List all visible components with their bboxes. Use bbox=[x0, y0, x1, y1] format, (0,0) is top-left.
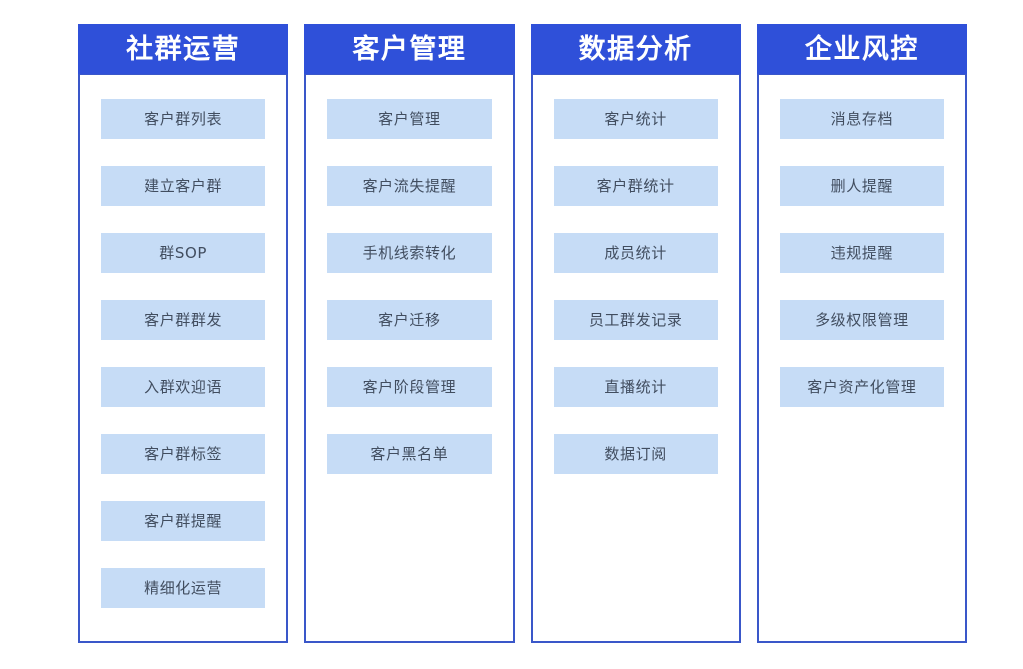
module-column: 客户管理客户管理客户流失提醒手机线索转化客户迁移客户阶段管理客户黑名单 bbox=[304, 24, 514, 643]
module-item[interactable]: 客户群列表 bbox=[101, 99, 265, 139]
module-item[interactable]: 入群欢迎语 bbox=[101, 367, 265, 407]
module-item[interactable]: 删人提醒 bbox=[780, 166, 944, 206]
module-item[interactable]: 直播统计 bbox=[554, 367, 718, 407]
module-item[interactable]: 建立客户群 bbox=[101, 166, 265, 206]
column-header[interactable]: 企业风控 bbox=[757, 24, 967, 74]
module-item[interactable]: 客户流失提醒 bbox=[327, 166, 491, 206]
column-body: 客户统计客户群统计成员统计员工群发记录直播统计数据订阅 bbox=[531, 74, 741, 643]
module-board: 社群运营客户群列表建立客户群群SOP客户群群发入群欢迎语客户群标签客户群提醒精细… bbox=[0, 0, 1023, 669]
module-column: 社群运营客户群列表建立客户群群SOP客户群群发入群欢迎语客户群标签客户群提醒精细… bbox=[78, 24, 288, 643]
module-item[interactable]: 员工群发记录 bbox=[554, 300, 718, 340]
column-header[interactable]: 社群运营 bbox=[78, 24, 288, 74]
module-item[interactable]: 客户统计 bbox=[554, 99, 718, 139]
module-item[interactable]: 客户阶段管理 bbox=[327, 367, 491, 407]
module-item[interactable]: 客户群群发 bbox=[101, 300, 265, 340]
column-header[interactable]: 客户管理 bbox=[304, 24, 514, 74]
module-item[interactable]: 精细化运营 bbox=[101, 568, 265, 608]
module-item[interactable]: 客户群统计 bbox=[554, 166, 718, 206]
module-item[interactable]: 违规提醒 bbox=[780, 233, 944, 273]
module-column: 数据分析客户统计客户群统计成员统计员工群发记录直播统计数据订阅 bbox=[531, 24, 741, 643]
module-item[interactable]: 成员统计 bbox=[554, 233, 718, 273]
module-item[interactable]: 手机线索转化 bbox=[327, 233, 491, 273]
module-item[interactable]: 多级权限管理 bbox=[780, 300, 944, 340]
module-item[interactable]: 客户群标签 bbox=[101, 434, 265, 474]
module-item[interactable]: 群SOP bbox=[101, 233, 265, 273]
module-item[interactable]: 客户资产化管理 bbox=[780, 367, 944, 407]
column-body: 消息存档删人提醒违规提醒多级权限管理客户资产化管理 bbox=[757, 74, 967, 643]
column-body: 客户管理客户流失提醒手机线索转化客户迁移客户阶段管理客户黑名单 bbox=[304, 74, 514, 643]
column-body: 客户群列表建立客户群群SOP客户群群发入群欢迎语客户群标签客户群提醒精细化运营 bbox=[78, 74, 288, 643]
module-item[interactable]: 数据订阅 bbox=[554, 434, 718, 474]
module-item[interactable]: 客户群提醒 bbox=[101, 501, 265, 541]
module-column: 企业风控消息存档删人提醒违规提醒多级权限管理客户资产化管理 bbox=[757, 24, 967, 643]
module-item[interactable]: 消息存档 bbox=[780, 99, 944, 139]
module-item[interactable]: 客户迁移 bbox=[327, 300, 491, 340]
module-item[interactable]: 客户管理 bbox=[327, 99, 491, 139]
column-header[interactable]: 数据分析 bbox=[531, 24, 741, 74]
module-item[interactable]: 客户黑名单 bbox=[327, 434, 491, 474]
